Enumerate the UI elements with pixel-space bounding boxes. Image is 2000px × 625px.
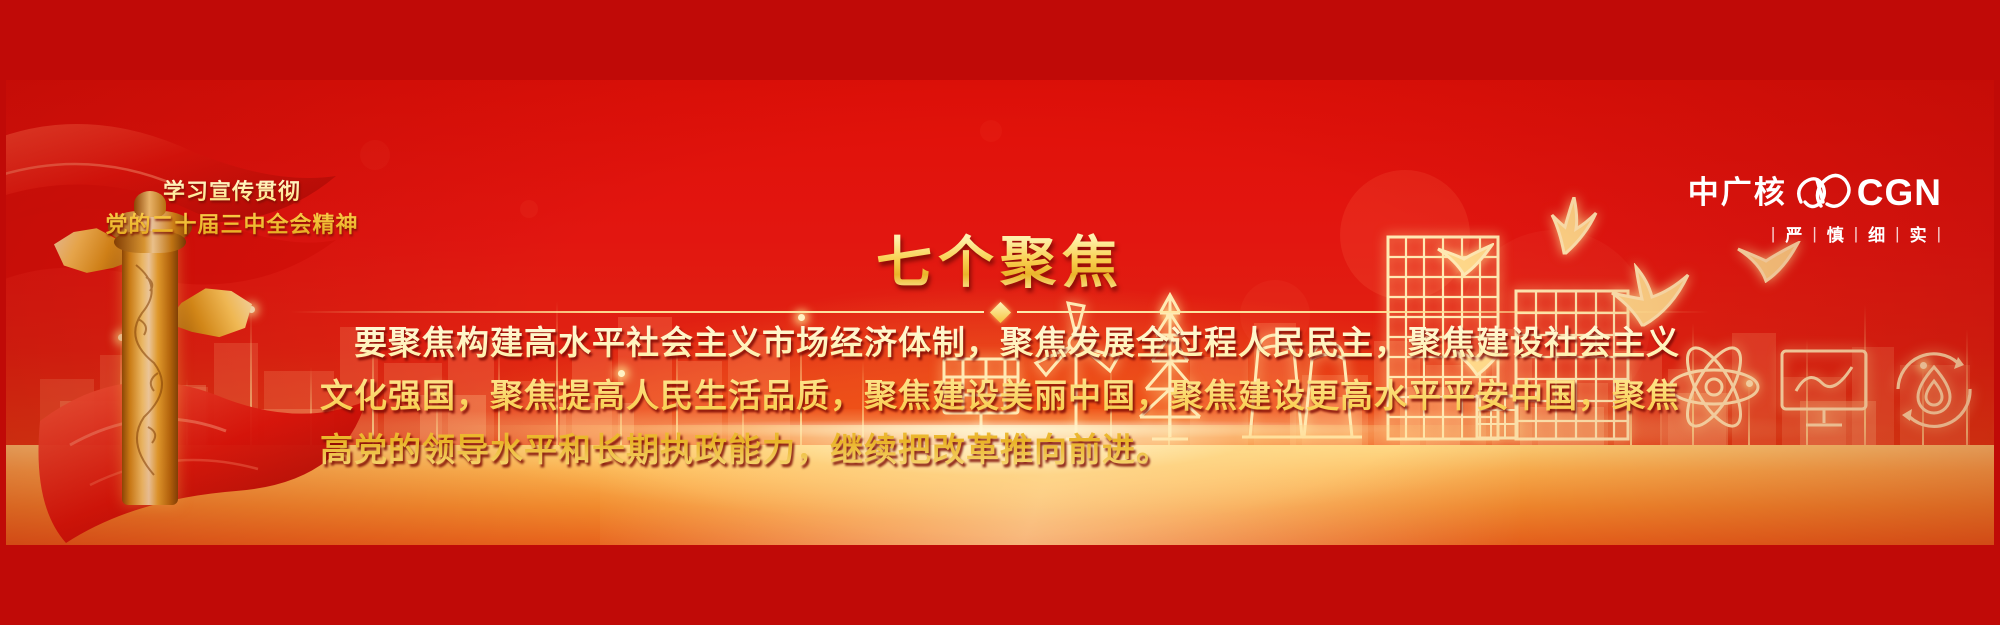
logo-wordmark-row: 中广核 CGN <box>1688 172 1942 212</box>
body-line-1: 要聚焦构建高水平社会主义市场经济体制，聚焦发展全过程人民民主，聚焦建设社会主义 <box>320 316 1680 369</box>
frame-bottom <box>0 545 2000 625</box>
frame-top <box>0 0 2000 80</box>
banner-title: 七个聚焦 <box>0 218 2000 299</box>
frame-left <box>0 0 6 625</box>
banner-panel: 学习宣传贯彻 党的二十届三中全会精神 中广核 CGN | 严 | 慎 | 细 <box>0 80 2000 545</box>
logo-english-name: CGN <box>1857 174 1942 211</box>
cgn-swirl-icon <box>1791 172 1853 212</box>
banner-body-text: 要聚焦构建高水平社会主义市场经济体制，聚焦发展全过程人民民主，聚焦建设社会主义 … <box>320 316 1680 476</box>
divider-line-left <box>290 311 984 313</box>
divider-line-right <box>1017 311 1711 313</box>
propaganda-banner: 学习宣传贯彻 党的二十届三中全会精神 中广核 CGN | 严 | 慎 | 细 <box>0 0 2000 625</box>
frame-right <box>1994 0 2000 625</box>
body-line-3: 高党的领导水平和长期执政能力，继续把改革推向前进。 <box>320 423 1680 476</box>
slogan-line-1: 学习宣传贯彻 <box>92 176 372 209</box>
body-line-2: 文化强国，聚焦提高人民生活品质，聚焦建设美丽中国，聚焦建设更高水平平安中国，聚焦… <box>320 369 1680 422</box>
logo-chinese-name: 中广核 <box>1688 177 1787 208</box>
